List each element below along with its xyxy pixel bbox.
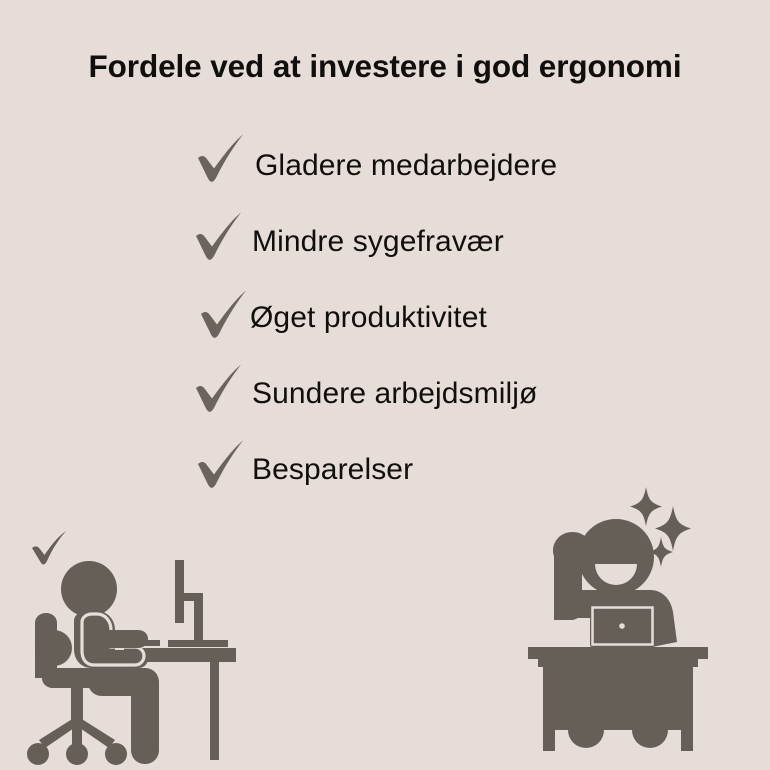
chair-casters bbox=[27, 743, 127, 765]
list-item-label: Gladere medarbejdere bbox=[255, 149, 557, 183]
happy-worker-at-desk-illustration bbox=[510, 470, 770, 770]
list-item-label: Besparelser bbox=[252, 453, 413, 487]
ergonomic-sitting-posture-illustration bbox=[18, 518, 268, 770]
poster-canvas: Fordele ved at investere i god ergonomi … bbox=[0, 0, 770, 770]
list-item: Sundere arbejdsmiljø bbox=[190, 356, 660, 432]
list-item-label: Sundere arbejdsmiljø bbox=[252, 377, 537, 411]
list-item-label: Mindre sygefravær bbox=[252, 225, 504, 259]
benefits-list: Gladere medarbejdere Mindre sygefravær Ø… bbox=[190, 128, 660, 508]
laptop bbox=[590, 605, 655, 647]
check-icon bbox=[192, 434, 250, 492]
list-item: Gladere medarbejdere bbox=[190, 128, 660, 204]
check-icon bbox=[190, 358, 248, 416]
page-title: Fordele ved at investere i god ergonomi bbox=[0, 48, 770, 85]
list-item-label: Øget produktivitet bbox=[250, 301, 487, 335]
check-icon bbox=[192, 128, 250, 186]
check-icon bbox=[32, 531, 66, 565]
check-icon bbox=[190, 206, 248, 264]
check-icon bbox=[195, 284, 253, 342]
person-head bbox=[61, 561, 117, 617]
list-item: Mindre sygefravær bbox=[190, 204, 660, 280]
list-item: Øget produktivitet bbox=[190, 280, 660, 356]
desk bbox=[528, 647, 708, 751]
monitor bbox=[168, 560, 228, 647]
